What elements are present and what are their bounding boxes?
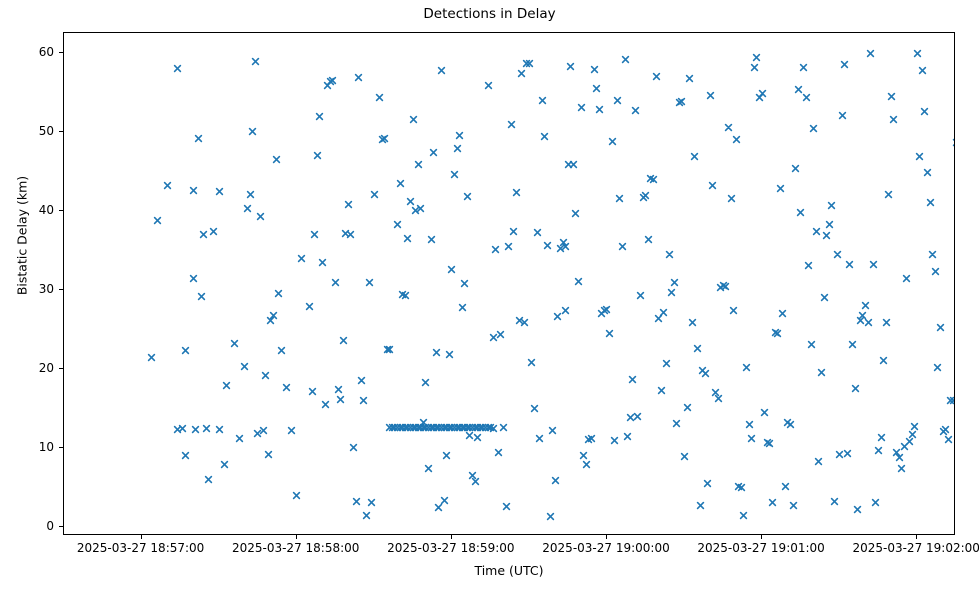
scatter-point [274, 289, 283, 298]
y-axis-tick [59, 131, 63, 132]
scatter-points-layer [64, 33, 954, 534]
x-axis-tick [606, 535, 607, 539]
scatter-point [305, 302, 314, 311]
scatter-point [936, 323, 945, 332]
scatter-point [502, 502, 511, 511]
scatter-point [778, 309, 787, 318]
scatter-point [396, 179, 405, 188]
scatter-point [194, 134, 203, 143]
scatter-point [318, 258, 327, 267]
scatter-point [147, 353, 156, 362]
scatter-point [590, 65, 599, 74]
scatter-point [952, 138, 956, 147]
scatter-point [908, 430, 917, 439]
scatter-point [954, 165, 955, 174]
scatter-point [393, 220, 402, 229]
scatter-point [191, 425, 200, 434]
scatter-point [235, 434, 244, 443]
y-axis-tick [59, 289, 63, 290]
scatter-point [447, 265, 456, 274]
scatter-point [789, 501, 798, 510]
scatter-point [409, 115, 418, 124]
scatter-point [827, 201, 836, 210]
scatter-point [918, 66, 927, 75]
y-axis-tick-label: 10 [0, 440, 54, 454]
scatter-point [889, 115, 898, 124]
scatter-point [657, 386, 666, 395]
scatter-point [272, 155, 281, 164]
scatter-point [944, 435, 953, 444]
scatter-point [825, 220, 834, 229]
scatter-point [450, 170, 459, 179]
scatter-point [315, 112, 324, 121]
scatter-point [724, 123, 733, 132]
scatter-point [243, 204, 252, 213]
scatter-point [820, 293, 829, 302]
scatter-point [802, 93, 811, 102]
scatter-point [432, 348, 441, 357]
scatter-point [610, 436, 619, 445]
scatter-point [352, 497, 361, 506]
scatter-point [551, 476, 560, 485]
scatter-point [533, 228, 542, 237]
scatter-point [453, 144, 462, 153]
scatter-point [540, 132, 549, 141]
scatter-point [561, 306, 570, 315]
scatter-point [714, 394, 723, 403]
scatter-point [781, 482, 790, 491]
scatter-point [685, 74, 694, 83]
scatter-point [530, 404, 539, 413]
scatter-point [636, 291, 645, 300]
x-axis-tick [451, 535, 452, 539]
scatter-point [189, 274, 198, 283]
scatter-point [830, 497, 839, 506]
scatter-point [592, 84, 601, 93]
scatter-point [838, 111, 847, 120]
scatter-point [631, 106, 640, 115]
scatter-point [928, 250, 937, 259]
scatter-point [822, 231, 831, 240]
scatter-point [587, 434, 596, 443]
scatter-point [706, 91, 715, 100]
x-axis-tick-label: 2025-03-27 19:00:00 [542, 541, 669, 555]
x-axis-tick-label: 2025-03-27 18:59:00 [387, 541, 514, 555]
scatter-point [313, 151, 322, 160]
scatter-point [297, 254, 306, 263]
scatter-point [703, 479, 712, 488]
scatter-point [256, 212, 265, 221]
scatter-point [163, 181, 172, 190]
scatter-point [354, 73, 363, 82]
scatter-point [321, 400, 330, 409]
scatter-point [633, 412, 642, 421]
scatter-point [941, 425, 950, 434]
scatter-point [181, 451, 190, 460]
scatter-point [817, 368, 826, 377]
scatter-point [437, 66, 446, 75]
scatter-point [282, 383, 291, 392]
scatter-point [747, 434, 756, 443]
scatter-point [385, 345, 394, 354]
x-axis-label: Time (UTC) [63, 563, 955, 578]
scatter-point [248, 127, 257, 136]
scatter-point [662, 359, 671, 368]
scatter-point [897, 464, 906, 473]
scatter-point [602, 305, 611, 314]
scatter-point [910, 422, 919, 431]
scatter-point [460, 279, 469, 288]
scatter-point [292, 491, 301, 500]
scatter-point [693, 344, 702, 353]
scatter-point [690, 152, 699, 161]
scatter-point [406, 197, 415, 206]
scatter-point [401, 291, 410, 300]
scatter-point [618, 242, 627, 251]
scatter-point [344, 200, 353, 209]
scatter-point [548, 426, 557, 435]
scatter-point [328, 76, 337, 85]
scatter-point [833, 250, 842, 259]
scatter-point [220, 460, 229, 469]
scatter-point [649, 175, 658, 184]
scatter-point [455, 131, 464, 140]
scatter-point [189, 186, 198, 195]
scatter-point [869, 260, 878, 269]
scatter-point [525, 59, 534, 68]
scatter-point [853, 505, 862, 514]
scatter-point [688, 318, 697, 327]
scatter-point [178, 424, 187, 433]
scatter-point [380, 134, 389, 143]
scatter-point [339, 336, 348, 345]
scatter-point [463, 192, 472, 201]
scatter-point [677, 97, 686, 106]
scatter-point [215, 425, 224, 434]
scatter-point [230, 339, 239, 348]
scatter-point [346, 230, 355, 239]
scatter-point [240, 362, 249, 371]
scatter-point [641, 191, 650, 200]
y-axis-tick [59, 526, 63, 527]
scatter-point [527, 358, 536, 367]
scatter-point [204, 475, 213, 484]
scatter-point [489, 424, 498, 433]
scatter-point [440, 496, 449, 505]
scatter-point [804, 261, 813, 270]
scatter-point [799, 63, 808, 72]
y-axis-label: Bistatic Delay (km) [15, 106, 30, 366]
scatter-point [933, 363, 942, 372]
scatter-point [215, 187, 224, 196]
scatter-point [696, 501, 705, 510]
scatter-point [864, 318, 873, 327]
scatter-point [209, 227, 218, 236]
scatter-point [732, 135, 741, 144]
scatter-point [701, 369, 710, 378]
scatter-point [520, 318, 529, 327]
scatter-point [871, 498, 880, 507]
scatter-point [473, 433, 482, 442]
scatter-point [504, 242, 513, 251]
scatter-point [509, 227, 518, 236]
scatter-point [429, 148, 438, 157]
scatter-point [546, 512, 555, 521]
scatter-point [414, 160, 423, 169]
scatter-point [375, 93, 384, 102]
scatter-point [458, 303, 467, 312]
scatter-point [199, 230, 208, 239]
scatter-point [621, 55, 630, 64]
scatter-point [750, 63, 759, 72]
scatter-point [758, 89, 767, 98]
scatter-point [512, 188, 521, 197]
scatter-point [887, 92, 896, 101]
scatter-point [499, 423, 508, 432]
scatter-point [814, 457, 823, 466]
y-axis-tick-label: 60 [0, 45, 54, 59]
scatter-point [427, 235, 436, 244]
scatter-point [680, 452, 689, 461]
scatter-point [931, 267, 940, 276]
scatter-point [277, 346, 286, 355]
scatter-point [261, 371, 270, 380]
scatter-point [471, 477, 480, 486]
figure-canvas: Detections in Delay 2025-03-27 18:57:002… [0, 0, 979, 590]
scatter-point [752, 53, 761, 62]
scatter-point [776, 184, 785, 193]
x-axis-tick-label: 2025-03-27 19:01:00 [697, 541, 824, 555]
plot-axes-frame [63, 32, 955, 535]
scatter-point [902, 274, 911, 283]
scatter-point [659, 308, 668, 317]
x-axis-tick-label: 2025-03-27 18:57:00 [77, 541, 204, 555]
scatter-point [310, 230, 319, 239]
scatter-point [882, 318, 891, 327]
scatter-point [269, 311, 278, 320]
scatter-point [745, 420, 754, 429]
x-axis-tick [916, 535, 917, 539]
y-axis-tick [59, 447, 63, 448]
scatter-point [334, 385, 343, 394]
scatter-point [915, 152, 924, 161]
scatter-point [605, 329, 614, 338]
scatter-point [595, 105, 604, 114]
scatter-point [543, 241, 552, 250]
scatter-point [538, 96, 547, 105]
scatter-point [840, 60, 849, 69]
scatter-point [895, 453, 904, 462]
scatter-point [579, 451, 588, 460]
scatter-point [786, 420, 795, 429]
scatter-point [665, 250, 674, 259]
scatter-point [362, 511, 371, 520]
scatter-point [768, 498, 777, 507]
scatter-point [349, 443, 358, 452]
scatter-point [421, 378, 430, 387]
scatter-point [652, 72, 661, 81]
scatter-point [926, 198, 935, 207]
scatter-point [848, 340, 857, 349]
scatter-point [517, 69, 526, 78]
scatter-point [367, 498, 376, 507]
scatter-point [357, 376, 366, 385]
scatter-point [153, 216, 162, 225]
scatter-point [287, 426, 296, 435]
scatter-point [877, 433, 886, 442]
scatter-point [796, 208, 805, 217]
scatter-point [574, 277, 583, 286]
scatter-point [370, 190, 379, 199]
scatter-point [445, 350, 454, 359]
scatter-point [760, 408, 769, 417]
scatter-point [667, 288, 676, 297]
scatter-point [202, 424, 211, 433]
scatter-point [866, 49, 875, 58]
x-axis-tick [296, 535, 297, 539]
scatter-point [577, 103, 586, 112]
scatter-point [569, 160, 578, 169]
scatter-point [727, 194, 736, 203]
x-axis-tick [141, 535, 142, 539]
x-axis-tick-label: 2025-03-27 18:58:00 [232, 541, 359, 555]
scatter-point [582, 460, 591, 469]
scatter-point [264, 450, 273, 459]
scatter-point [484, 81, 493, 90]
scatter-point [496, 330, 505, 339]
scatter-point [331, 278, 340, 287]
scatter-point [403, 234, 412, 243]
scatter-point [884, 190, 893, 199]
scatter-point [708, 181, 717, 190]
scatter-point [608, 137, 617, 146]
y-axis-tick [59, 52, 63, 53]
scatter-point [765, 439, 774, 448]
scatter-point [494, 448, 503, 457]
scatter-point [807, 340, 816, 349]
scatter-point [336, 395, 345, 404]
scatter-point [308, 387, 317, 396]
scatter-point [491, 245, 500, 254]
scatter-point [246, 190, 255, 199]
scatter-point [535, 434, 544, 443]
scatter-point [613, 96, 622, 105]
scatter-point [920, 107, 929, 116]
scatter-point [721, 282, 730, 291]
scatter-point [251, 57, 260, 66]
scatter-point [173, 64, 182, 73]
scatter-point [742, 363, 751, 372]
scatter-point [197, 292, 206, 301]
scatter-point [424, 464, 433, 473]
scatter-point [628, 375, 637, 384]
y-axis-tick [59, 210, 63, 211]
scatter-point [416, 204, 425, 213]
scatter-point [851, 384, 860, 393]
scatter-point [623, 432, 632, 441]
scatter-point [861, 301, 870, 310]
scatter-point [359, 396, 368, 405]
scatter-point [615, 194, 624, 203]
scatter-point [365, 278, 374, 287]
scatter-point [729, 306, 738, 315]
scatter-point [949, 396, 955, 405]
x-axis-tick [761, 535, 762, 539]
scatter-point [809, 124, 818, 133]
scatter-point [259, 426, 268, 435]
scatter-point [561, 242, 570, 251]
x-axis-tick-label: 2025-03-27 19:02:00 [852, 541, 979, 555]
scatter-point [644, 235, 653, 244]
chart-title: Detections in Delay [0, 6, 979, 22]
scatter-point [566, 62, 575, 71]
scatter-point [222, 381, 231, 390]
scatter-point [923, 168, 932, 177]
scatter-point [507, 120, 516, 129]
scatter-point [879, 356, 888, 365]
y-axis-tick-label: 0 [0, 519, 54, 533]
scatter-point [737, 483, 746, 492]
scatter-point [672, 419, 681, 428]
scatter-point [874, 446, 883, 455]
scatter-point [845, 260, 854, 269]
scatter-point [670, 278, 679, 287]
scatter-point [442, 451, 451, 460]
scatter-point [843, 449, 852, 458]
scatter-point [812, 227, 821, 236]
y-axis-tick [59, 368, 63, 369]
scatter-point [181, 346, 190, 355]
scatter-point [773, 329, 782, 338]
scatter-point [683, 403, 692, 412]
scatter-point [913, 49, 922, 58]
scatter-point [571, 209, 580, 218]
scatter-point [791, 164, 800, 173]
scatter-point [739, 511, 748, 520]
